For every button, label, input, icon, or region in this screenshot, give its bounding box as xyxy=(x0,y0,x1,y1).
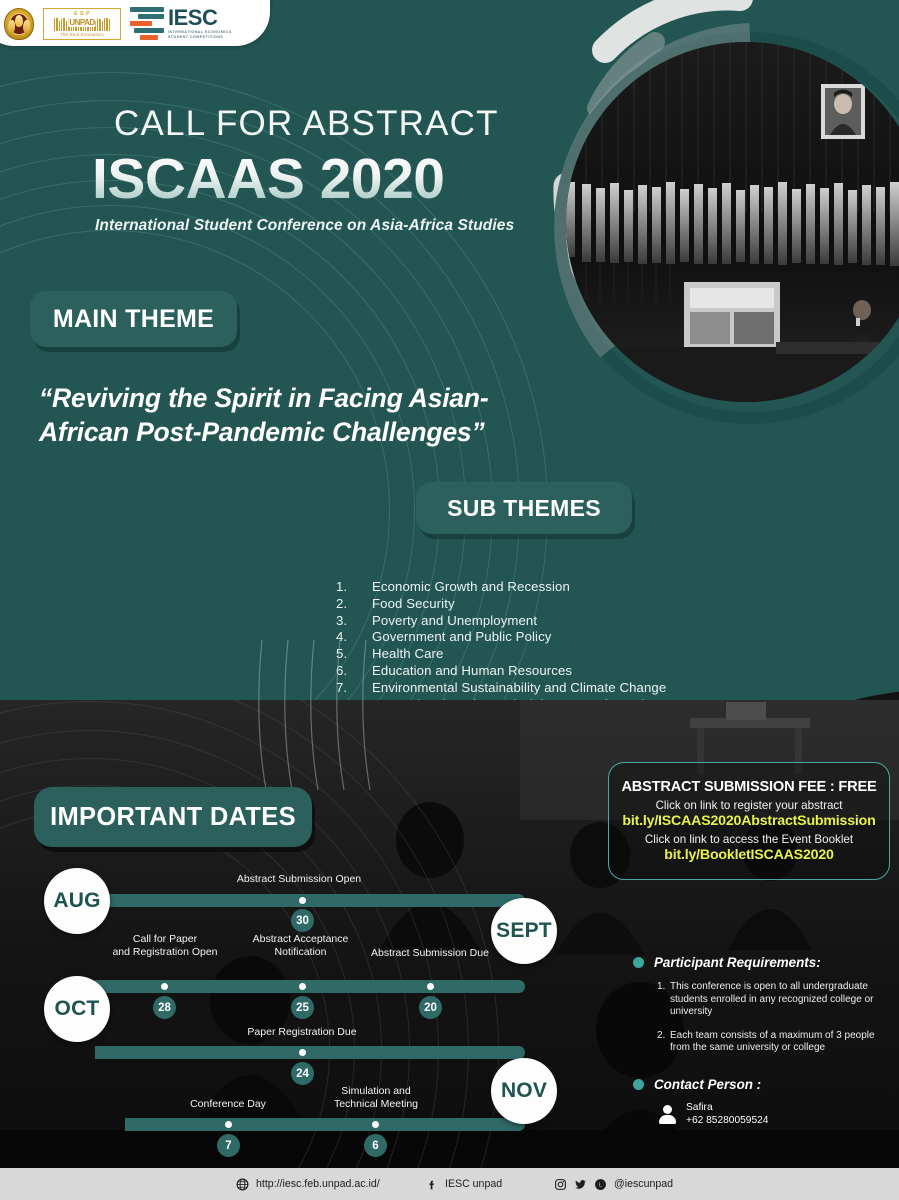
esp-logo-letters: E S P xyxy=(47,11,117,17)
contact-name: Safira xyxy=(686,1102,768,1115)
timeline-node-2 xyxy=(158,980,171,993)
sub-theme-number: 2. xyxy=(336,596,372,613)
timeline-bar-3 xyxy=(95,1046,525,1059)
decorative-vertical-lines xyxy=(240,640,400,790)
instagram-icon xyxy=(554,1178,567,1191)
logo-bar: E S P UNPAD The Real Economics IESC INTE… xyxy=(0,0,270,46)
page-title: ISCAAS 2020 xyxy=(92,146,445,212)
footer-bar: http://iesc.feb.unpad.ac.id/ IESC unpad … xyxy=(0,1168,899,1200)
fee-title: ABSTRACT SUBMISSION FEE : FREE xyxy=(621,779,876,795)
sub-theme-label: Food Security xyxy=(372,596,455,613)
timeline-node-7 xyxy=(369,1118,382,1131)
contact-phone[interactable]: +62 85280059524 xyxy=(686,1115,768,1128)
sub-theme-label: Poverty and Unemployment xyxy=(372,613,537,630)
timeline-day-6: 6 xyxy=(364,1134,387,1157)
timeline-month-nov: NOV xyxy=(491,1058,557,1124)
fee-line-1: Click on link to register your abstract xyxy=(656,799,843,812)
sub-theme-number: 3. xyxy=(336,613,372,630)
list-item: 1.This conference is open to all undergr… xyxy=(657,981,891,1019)
list-item: 2.Food Security xyxy=(336,596,696,613)
footer-social[interactable]: L @iescunpad xyxy=(554,1178,673,1191)
timeline-day-25: 25 xyxy=(291,996,314,1019)
timeline-node-4 xyxy=(424,980,437,993)
timeline-node-1 xyxy=(296,894,309,907)
timeline-month-sept: SEPT xyxy=(491,898,557,964)
footer-website[interactable]: http://iesc.feb.unpad.ac.id/ xyxy=(236,1178,380,1191)
timeline-node-5 xyxy=(296,1046,309,1059)
conference-subtitle: International Student Conference on Asia… xyxy=(95,217,514,235)
timeline-label-call-for-paper: Call for Paper and Registration Open xyxy=(85,933,245,958)
timeline-month-aug: AUG xyxy=(44,868,110,934)
requirement-number: 2. xyxy=(657,1030,670,1055)
iesc-mark xyxy=(130,7,164,40)
requirements-list: 1.This conference is open to all undergr… xyxy=(657,981,891,1055)
footer-facebook[interactable]: IESC unpad xyxy=(425,1178,502,1191)
sub-theme-label: Economic Growth and Recession xyxy=(372,579,570,596)
call-for-abstract-kicker: CALL FOR ABSTRACT xyxy=(114,104,499,144)
timeline-label-abstract-submission-due: Abstract Submission Due xyxy=(366,947,494,960)
requirement-text: This conference is open to all undergrad… xyxy=(670,981,891,1019)
poster-root: E S P UNPAD The Real Economics IESC INTE… xyxy=(0,0,899,1200)
facebook-icon xyxy=(425,1178,438,1191)
timeline-label-abstract-acceptance: Abstract Acceptance Notification xyxy=(228,933,373,958)
timeline-month-oct: OCT xyxy=(44,976,110,1042)
timeline-label-conference-day: Conference Day xyxy=(164,1098,292,1111)
list-item: 3.Poverty and Unemployment xyxy=(336,613,696,630)
esp-logo: E S P UNPAD The Real Economics xyxy=(43,8,121,40)
sub-theme-label: Education and Human Resources xyxy=(372,663,572,680)
iesc-logo: IESC INTERNATIONAL ECONOMICS STUDENT COM… xyxy=(130,7,232,40)
svg-text:L: L xyxy=(599,1182,602,1188)
esp-tagline: The Real Economics xyxy=(47,32,117,37)
bullet-dot-icon xyxy=(633,957,644,968)
timeline-day-28: 28 xyxy=(153,996,176,1019)
timeline-bar-4 xyxy=(125,1118,525,1131)
bullet-dot-icon xyxy=(633,1079,644,1090)
timeline-node-6 xyxy=(222,1118,235,1131)
sub-themes-badge: SUB THEMES xyxy=(416,482,632,534)
timeline-bar-1 xyxy=(95,894,525,907)
footer-website-label: http://iesc.feb.unpad.ac.id/ xyxy=(256,1178,380,1190)
esp-unpad-mark: UNPAD xyxy=(68,18,95,27)
iesc-tagline-1: INTERNATIONAL ECONOMICS xyxy=(168,31,232,35)
timeline-label-abstract-submission-open: Abstract Submission Open xyxy=(204,873,394,886)
timeline-label-simulation-technical-meeting: Simulation and Technical Meeting xyxy=(312,1085,440,1110)
timeline-day-24: 24 xyxy=(291,1062,314,1085)
contact-row: Safira +62 85280059524 xyxy=(659,1102,891,1127)
requirements-heading-label: Participant Requirements: xyxy=(654,955,821,970)
event-booklet-link[interactable]: bit.ly/BookletISCAAS2020 xyxy=(664,847,833,863)
list-item: 2.Each team consists of a maximum of 3 p… xyxy=(657,1030,891,1055)
abstract-submission-link[interactable]: bit.ly/ISCAAS2020AbstractSubmission xyxy=(622,813,875,829)
list-item: 1.Economic Growth and Recession xyxy=(336,579,696,596)
unpad-logo xyxy=(4,8,34,40)
footer-social-handle: @iescunpad xyxy=(614,1178,673,1190)
iesc-wordmark: IESC xyxy=(168,7,232,29)
main-theme-text: “Reviving the Spirit in Facing Asian-Afr… xyxy=(39,382,509,450)
timeline: AUG SEPT 30 Abstract Submission Open 28 … xyxy=(0,860,600,1160)
timeline-label-paper-registration-due: Paper Registration Due xyxy=(228,1026,376,1039)
timeline-day-7: 7 xyxy=(217,1134,240,1157)
requirement-text: Each team consists of a maximum of 3 peo… xyxy=(670,1030,891,1055)
timeline-day-20: 20 xyxy=(419,996,442,1019)
person-icon xyxy=(659,1105,676,1124)
contact-heading: Contact Person : xyxy=(633,1077,891,1092)
line-icon: L xyxy=(594,1178,607,1191)
main-theme-badge: MAIN THEME xyxy=(30,291,237,347)
timeline-node-3 xyxy=(296,980,309,993)
requirements-heading: Participant Requirements: xyxy=(633,955,891,970)
globe-icon xyxy=(236,1178,249,1191)
iesc-tagline-2: STUDENT COMPETITIONS xyxy=(168,36,232,40)
requirement-number: 1. xyxy=(657,981,670,1019)
timeline-day-30: 30 xyxy=(291,909,314,932)
conference-hall-photo xyxy=(566,42,899,402)
abstract-fee-box: ABSTRACT SUBMISSION FEE : FREE Click on … xyxy=(608,762,890,880)
contact-heading-label: Contact Person : xyxy=(654,1077,761,1092)
footer-facebook-label: IESC unpad xyxy=(445,1178,502,1190)
participant-requirements-block: Participant Requirements: 1.This confere… xyxy=(633,955,891,1066)
fee-line-2: Click on link to access the Event Bookle… xyxy=(645,833,853,846)
important-dates-badge: IMPORTANT DATES xyxy=(34,787,312,847)
sub-theme-number: 1. xyxy=(336,579,372,596)
contact-person-block: Contact Person : Safira +62 85280059524 xyxy=(633,1077,891,1127)
twitter-icon xyxy=(574,1178,587,1191)
sub-theme-label: Environmental Sustainability and Climate… xyxy=(372,680,666,697)
